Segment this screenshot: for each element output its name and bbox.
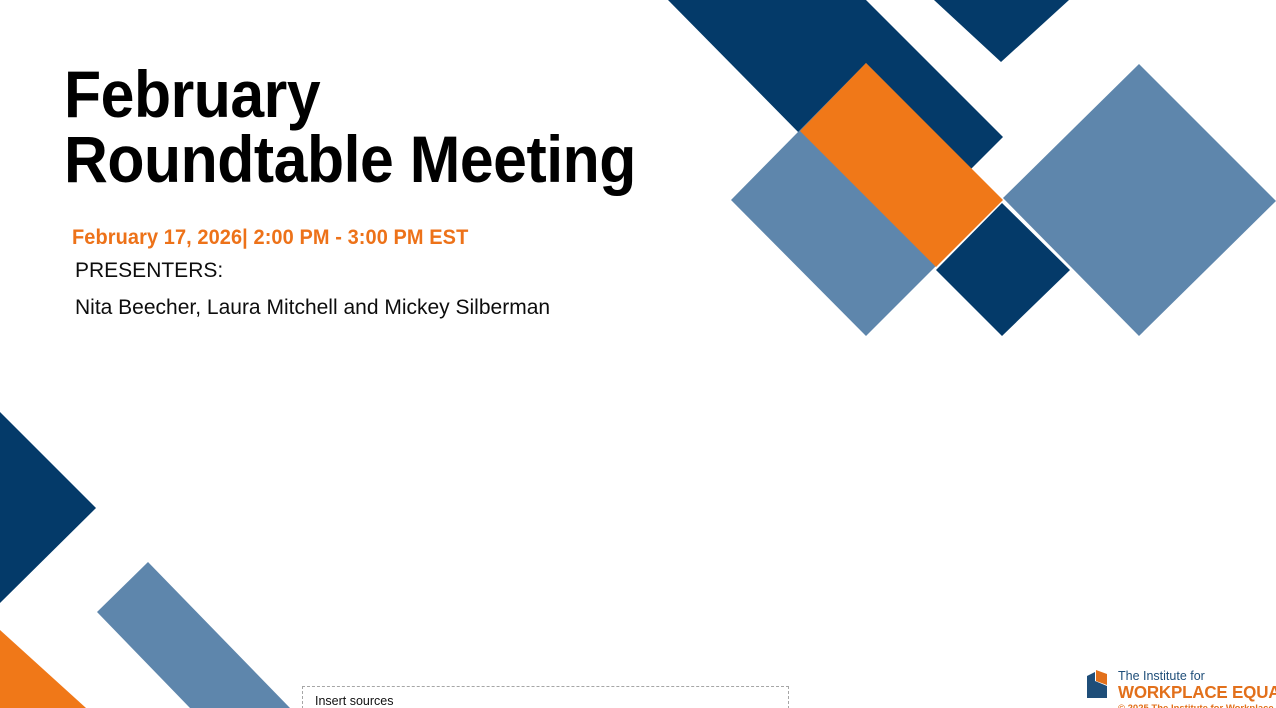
navy-wedge-bottom-left-icon [0,412,96,603]
logo-copyright-text: © 2025 The Institute for Workplace Equal… [1118,703,1276,708]
navy-wedge-top-icon [934,0,1069,62]
institute-building-mark-icon [1087,670,1113,698]
sources-placeholder-text: Insert sources [315,694,394,708]
orange-wedge-bottom-left-icon [0,630,86,708]
slate-diagonal-band-bottom-icon [97,562,290,708]
navy-diamond-icon [936,203,1070,336]
slate-diamond-left-icon [731,63,1002,336]
date-time-line: February 17, 2026| 2:00 PM - 3:00 PM EST [72,226,468,250]
logo-wordmark: The Institute for WORKPLACE EQUALITY [1118,670,1276,701]
page-title: February Roundtable Meeting [64,62,653,191]
title-block: February Roundtable Meeting [64,62,704,191]
presenters-label: PRESENTERS: [75,259,223,283]
sources-placeholder-box[interactable]: Insert sources [302,686,789,708]
presentation-slide: February Roundtable Meeting February 17,… [0,0,1276,708]
slate-diamond-right-icon [1003,64,1276,336]
navy-diagonal-band-icon [668,0,1003,237]
presenters-names: Nita Beecher, Laura Mitchell and Mickey … [75,296,550,320]
logo-line-workplace-equality: WORKPLACE EQUALITY [1118,683,1273,701]
organization-logo: The Institute for WORKPLACE EQUALITY © 2… [1087,670,1276,708]
orange-diagonal-band-icon [800,63,1003,267]
